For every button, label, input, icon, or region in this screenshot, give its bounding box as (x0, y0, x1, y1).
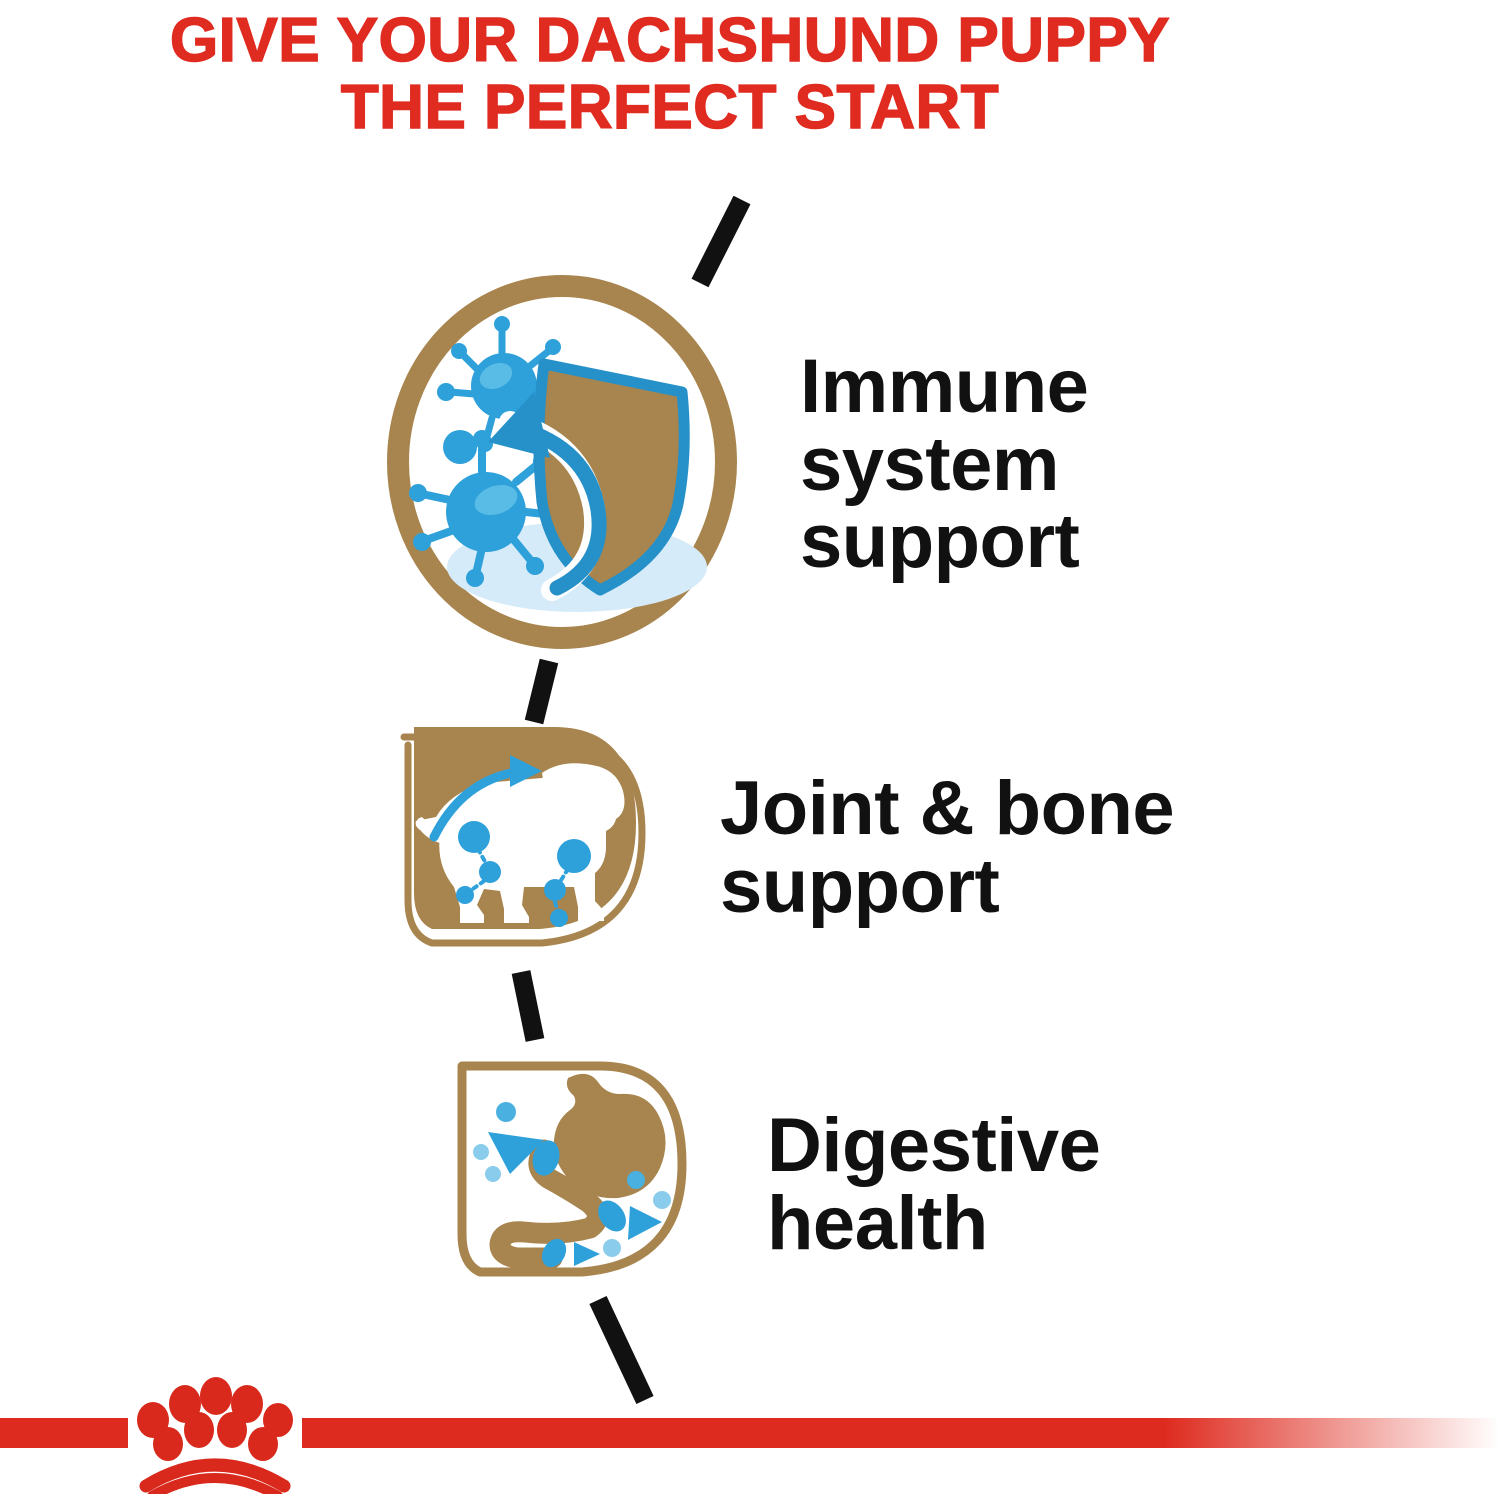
feature-label-line-2: system (800, 426, 1088, 504)
feature-label-digestive: Digestive health (767, 1107, 1100, 1262)
feature-row-joint-bone: Joint & bone support (392, 715, 1174, 980)
feature-label-line-1: Joint & bone (720, 770, 1174, 848)
joint-bone-dog-icon (392, 715, 662, 980)
feature-label-immune: Immune system support (800, 348, 1088, 581)
immune-shield-icon (382, 272, 742, 657)
headline-line-1: GIVE YOUR DACHSHUND PUPPY (0, 8, 1340, 75)
feature-label-line-2: health (767, 1185, 1100, 1263)
poster-canvas: GIVE YOUR DACHSHUND PUPPY THE PERFECT ST… (0, 0, 1500, 1500)
feature-label-line-1: Digestive (767, 1107, 1100, 1185)
feature-row-immune: Immune system support (382, 272, 1088, 657)
feature-label-joint-bone: Joint & bone support (720, 770, 1174, 925)
page-title: GIVE YOUR DACHSHUND PUPPY THE PERFECT ST… (0, 8, 1340, 142)
digestive-stomach-icon (440, 1052, 705, 1317)
headline-line-2: THE PERFECT START (0, 75, 1340, 142)
feature-label-line-2: support (720, 848, 1174, 926)
feature-label-line-1: Immune (800, 348, 1088, 426)
feature-row-digestive: Digestive health (440, 1052, 1100, 1317)
brand-bar-right-segment (302, 1418, 1500, 1448)
feature-label-line-3: support (800, 503, 1088, 581)
royal-canin-crown-logo (120, 1364, 310, 1494)
brand-bar-left-segment (0, 1418, 128, 1448)
